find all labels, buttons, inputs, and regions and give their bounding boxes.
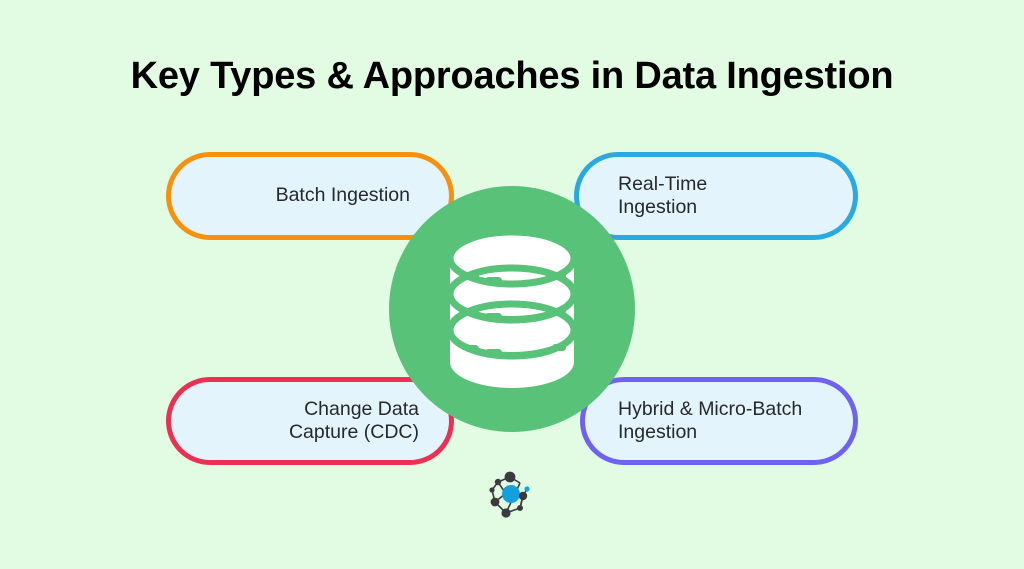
infographic-canvas: Key Types & Approaches in Data Ingestion… — [0, 0, 1024, 569]
box-hybrid-micro-batch-ingestion-label: Hybrid & Micro-Batch Ingestion — [618, 398, 802, 445]
page-title: Key Types & Approaches in Data Ingestion — [0, 55, 1024, 98]
database-icon — [442, 228, 582, 390]
network-nodes-logo — [484, 469, 538, 523]
center-node — [389, 186, 635, 432]
